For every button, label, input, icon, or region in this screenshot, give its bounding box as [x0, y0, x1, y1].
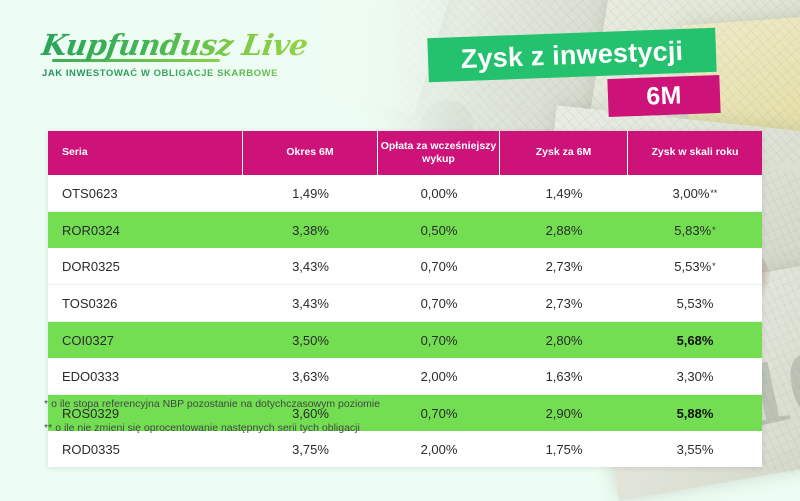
table-cell-okres: 3,43% [243, 248, 378, 284]
column-header-zysk-6m: Zysk za 6M [500, 131, 628, 175]
footnote-ref: ** [710, 188, 717, 198]
column-header-seria: Seria [48, 131, 243, 175]
table-cell-zysk_rok: 5,83%* [628, 212, 762, 248]
footnote-item: **o ile nie zmieni się oprocentowanie na… [44, 422, 380, 434]
table-cell-oplata: 2,00% [378, 431, 500, 467]
table-cell-zysk6m: 2,80% [500, 322, 628, 358]
table-cell-okres: 3,43% [243, 285, 378, 321]
column-header-okres: Okres 6M [243, 131, 378, 175]
table-cell-zysk_rok: 3,00%** [628, 175, 762, 211]
footnote-text: o ile nie zmieni się oprocentowanie nast… [55, 422, 360, 434]
table-cell-zysk6m: 2,73% [500, 285, 628, 321]
period-badge: 6M [607, 75, 720, 117]
footnote-marker: ** [44, 422, 52, 434]
table-cell-oplata: 0,00% [378, 175, 500, 211]
logo-tagline: JAK INWESTOWAĆ W OBLIGACJE SKARBOWE [42, 68, 308, 79]
footnote-ref: * [712, 225, 716, 235]
table-cell-seria: TOS0326 [48, 285, 243, 321]
table-cell-okres: 3,38% [243, 212, 378, 248]
table-cell-zysk6m: 1,75% [500, 431, 628, 467]
table-cell-zysk_rok: 3,55% [628, 431, 762, 467]
table-row: DOR03253,43%0,70%2,73%5,53%* [48, 248, 762, 285]
table-header-row: Seria Okres 6M Opłata za wcześniejszy wy… [48, 131, 762, 175]
table-cell-zysk_rok: 5,68% [628, 322, 762, 358]
table-cell-oplata: 2,00% [378, 358, 500, 394]
table-cell-zysk6m: 1,63% [500, 358, 628, 394]
table-cell-okres: 1,49% [243, 175, 378, 211]
footnotes: *o ile stopa referencyjna NBP pozostanie… [44, 398, 380, 446]
period-badge-label: 6M [646, 81, 682, 111]
table-row: OTS06231,49%0,00%1,49%3,00%** [48, 175, 762, 212]
headline-title: Zysk z inwestycji [460, 35, 683, 74]
table-cell-zysk_rok: 3,30% [628, 358, 762, 394]
table-cell-oplata: 0,50% [378, 212, 500, 248]
brand-logo: Kupfundusz Live JAK INWESTOWAĆ W OBLIGAC… [42, 28, 308, 79]
table-cell-seria: EDO0333 [48, 358, 243, 394]
table-cell-seria: COI0327 [48, 322, 243, 358]
column-header-zysk-rok: Zysk w skali roku [628, 131, 762, 175]
logo-wordmark: Kupfundusz Live [39, 28, 310, 62]
table-cell-zysk6m: 2,90% [500, 395, 628, 431]
headline-banner: Zysk z inwestycji [427, 28, 716, 83]
table-row: ROR03243,38%0,50%2,88%5,83%* [48, 212, 762, 248]
footnote-item: *o ile stopa referencyjna NBP pozostanie… [44, 398, 380, 410]
table-cell-zysk_rok: 5,88% [628, 395, 762, 431]
footnote-ref: * [712, 261, 716, 271]
table-cell-oplata: 0,70% [378, 395, 500, 431]
table-row: COI03273,50%0,70%2,80%5,68% [48, 322, 762, 358]
table-cell-zysk6m: 2,73% [500, 248, 628, 284]
table-row: EDO03333,63%2,00%1,63%3,30% [48, 358, 762, 395]
table-cell-oplata: 0,70% [378, 322, 500, 358]
table-cell-oplata: 0,70% [378, 248, 500, 284]
table-cell-zysk6m: 2,88% [500, 212, 628, 248]
footnote-text: o ile stopa referencyjna NBP pozostanie … [51, 398, 380, 410]
table-cell-oplata: 0,70% [378, 285, 500, 321]
column-header-oplata: Opłata za wcześniejszy wykup [378, 131, 500, 175]
table-cell-zysk6m: 1,49% [500, 175, 628, 211]
table-cell-seria: ROR0324 [48, 212, 243, 248]
table-cell-zysk_rok: 5,53% [628, 285, 762, 321]
footnote-marker: * [44, 398, 48, 410]
table-cell-seria: DOR0325 [48, 248, 243, 284]
table-cell-okres: 3,50% [243, 322, 378, 358]
table-cell-okres: 3,63% [243, 358, 378, 394]
table-cell-seria: OTS0623 [48, 175, 243, 211]
table-row: TOS03263,43%0,70%2,73%5,53% [48, 285, 762, 322]
table-cell-zysk_rok: 5,53%* [628, 248, 762, 284]
